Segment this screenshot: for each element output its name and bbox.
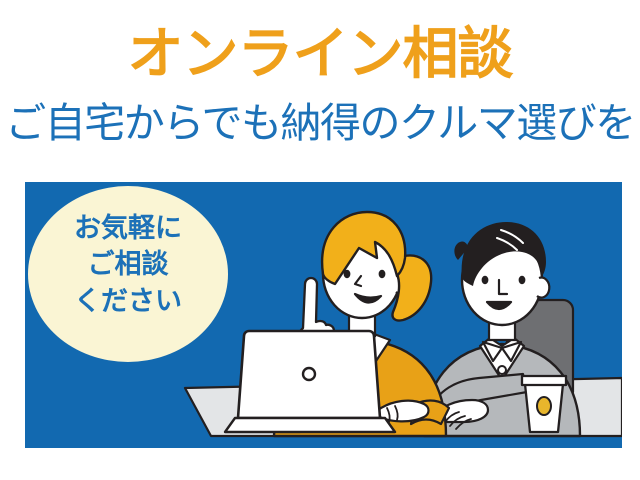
page-subtitle: ご自宅からでも納得のクルマ選びを — [0, 103, 640, 144]
promo-banner-page: オンライン相談 ご自宅からでも納得のクルマ選びを — [0, 0, 640, 480]
badge-line-1: お気軽に — [28, 210, 228, 246]
headline-area: オンライン相談 ご自宅からでも納得のクルマ選びを — [0, 0, 640, 176]
badge-line-2: ご相談 — [28, 246, 228, 282]
bottom-whitespace — [0, 448, 640, 480]
page-title: オンライン相談 — [0, 26, 640, 82]
laptop — [225, 331, 395, 432]
promo-banner: お気軽に ご相談 ください — [25, 182, 622, 448]
badge-text: お気軽に ご相談 ください — [28, 210, 228, 319]
coffee-cup — [522, 376, 566, 432]
badge-line-3: ください — [28, 283, 228, 319]
